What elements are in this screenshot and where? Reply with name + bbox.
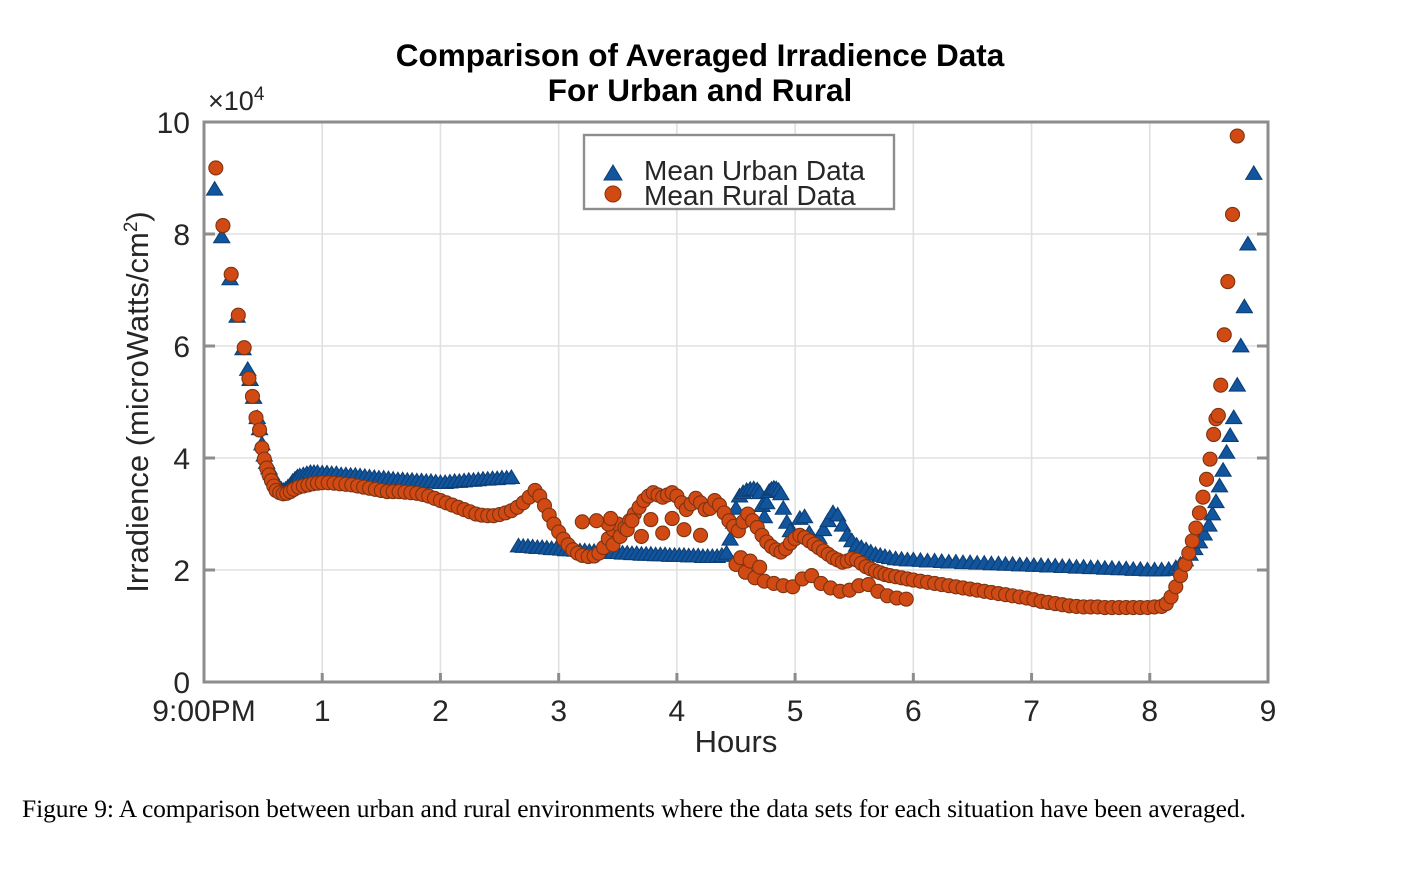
x-tick-label: 5: [787, 695, 804, 728]
data-point: [1203, 452, 1217, 466]
data-point: [1214, 378, 1228, 392]
data-point: [237, 341, 251, 355]
data-point: [253, 423, 267, 437]
y-tick-label: 6: [173, 331, 190, 364]
data-point: [634, 529, 648, 543]
series-mean-urban-data: [207, 166, 1262, 576]
data-point: [1196, 490, 1210, 504]
legend-rural-circle-icon: [605, 186, 621, 202]
data-point: [589, 514, 603, 528]
data-point: [1226, 207, 1240, 221]
data-point: [625, 514, 639, 528]
x-tick-label: 6: [905, 695, 922, 728]
data-point: [604, 511, 618, 525]
data-point: [1217, 328, 1231, 342]
y-tick-label: 4: [173, 443, 190, 476]
data-point: [1219, 445, 1235, 458]
data-point: [899, 592, 913, 606]
x-tick-label: 3: [550, 695, 567, 728]
data-point: [1192, 506, 1206, 520]
data-point: [224, 267, 238, 281]
y-tick-label: 2: [173, 555, 190, 588]
x-tick-label: 1: [314, 695, 331, 728]
chart-title-line1: Comparison of Averaged Irradience Data: [396, 37, 1005, 73]
data-point: [1185, 534, 1199, 548]
data-point: [242, 371, 256, 385]
data-point: [1200, 472, 1214, 486]
data-point: [1211, 408, 1225, 422]
data-point: [1221, 275, 1235, 289]
x-tick-label: 4: [669, 695, 686, 728]
data-point: [209, 161, 223, 175]
data-point: [1233, 338, 1249, 351]
data-point: [656, 526, 670, 540]
data-point: [753, 560, 767, 574]
y-tick-label: 0: [173, 667, 190, 700]
data-point: [231, 308, 245, 322]
irradiance-scatter-chart: Comparison of Averaged Irradience Data F…: [0, 0, 1402, 770]
data-point: [665, 511, 679, 525]
x-tick-label: 9:00PM: [152, 695, 255, 728]
data-point: [207, 182, 223, 195]
data-point: [1226, 410, 1242, 423]
data-point: [1189, 521, 1203, 535]
data-point: [245, 389, 259, 403]
data-point: [575, 515, 589, 529]
x-tick-label: 9: [1260, 695, 1277, 728]
data-point: [1230, 129, 1244, 143]
chart-legend[interactable]: Mean Urban Data Mean Rural Data: [584, 135, 894, 211]
data-point: [1229, 378, 1245, 391]
data-point: [1236, 299, 1252, 312]
figure-caption: Figure 9: A comparison between urban and…: [22, 792, 1352, 827]
data-point: [1207, 427, 1221, 441]
data-point: [216, 219, 230, 233]
data-point: [1240, 237, 1256, 250]
y-axis-title: Irradience (microWatts/cm2): [120, 211, 155, 592]
data-point: [775, 501, 791, 514]
data-point: [1246, 166, 1262, 179]
x-tick-label: 8: [1141, 695, 1158, 728]
data-point: [644, 513, 658, 527]
y-tick-label: 8: [173, 219, 190, 252]
x-tick-label: 2: [432, 695, 449, 728]
figure-container: Comparison of Averaged Irradience Data F…: [0, 0, 1402, 895]
data-point: [1222, 428, 1238, 441]
chart-title-line2: For Urban and Rural: [548, 72, 853, 108]
data-point: [694, 528, 708, 542]
y-axis-exponent: ×104: [208, 84, 265, 116]
data-point: [677, 523, 691, 537]
legend-label-rural: Mean Rural Data: [644, 180, 856, 211]
y-tick-label: 10: [157, 107, 190, 140]
x-axis-title: Hours: [695, 724, 778, 759]
x-tick-label: 7: [1023, 695, 1040, 728]
data-point: [1215, 463, 1231, 476]
chart-area: Comparison of Averaged Irradience Data F…: [0, 0, 1402, 770]
